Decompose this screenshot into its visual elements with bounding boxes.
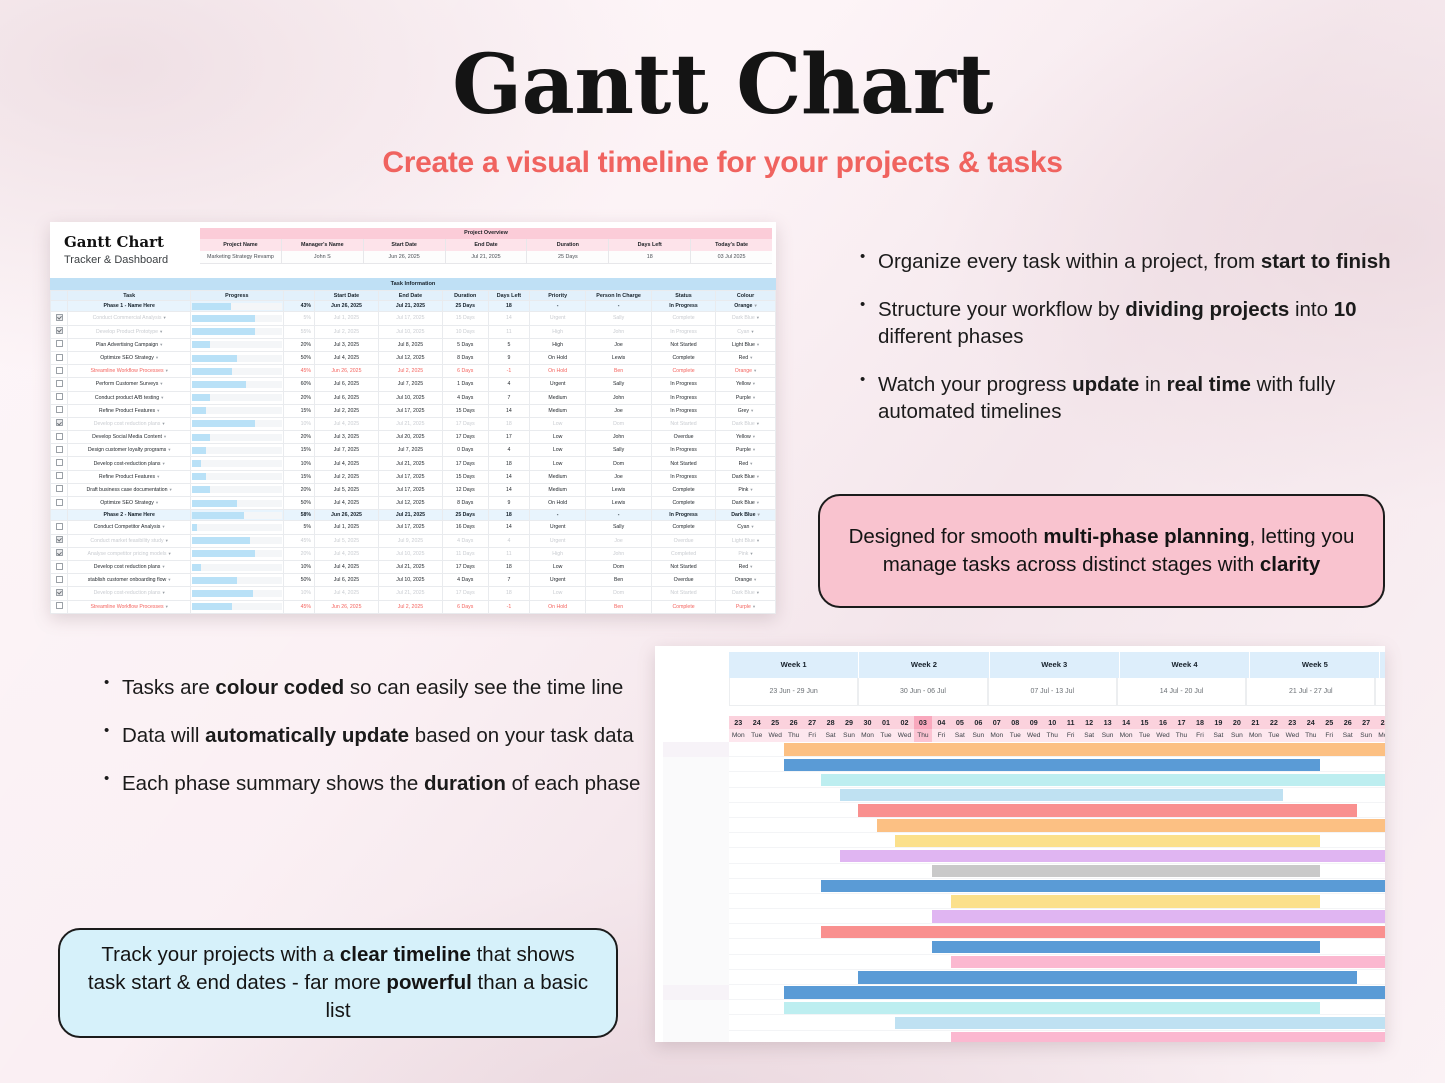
days-left-cell[interactable]: -1: [488, 365, 530, 378]
status-cell[interactable]: Complete: [652, 483, 716, 496]
duration-cell[interactable]: 6 Days: [442, 600, 488, 613]
colour-cell[interactable]: Dark Blue▾: [716, 417, 776, 430]
gantt-bar[interactable]: [840, 789, 1283, 801]
gantt-bar[interactable]: [951, 895, 1320, 907]
gantt-bar[interactable]: [821, 926, 1385, 938]
priority-cell[interactable]: On Hold: [530, 351, 586, 364]
days-left-cell[interactable]: 18: [488, 510, 530, 521]
table-row[interactable]: Phase 2 - Name Here58%Jun 26, 2025Jul 21…: [51, 510, 776, 521]
status-cell[interactable]: In Progress: [652, 301, 716, 312]
start-date-cell[interactable]: Jul 2, 2025: [314, 404, 378, 417]
priority-cell[interactable]: Low: [530, 444, 586, 457]
person-in-charge-cell[interactable]: Joe: [586, 404, 652, 417]
gantt-bar[interactable]: [951, 956, 1385, 968]
days-left-cell[interactable]: 14: [488, 521, 530, 534]
person-in-charge-cell[interactable]: Ben: [586, 600, 652, 613]
colour-cell[interactable]: Pink▾: [716, 483, 776, 496]
table-row[interactable]: Optimize SEO Strategy▾50%Jul 4, 2025Jul …: [51, 351, 776, 364]
days-left-cell[interactable]: -1: [488, 600, 530, 613]
table-row[interactable]: Develop Product Prototype▾55%Jul 2, 2025…: [51, 325, 776, 338]
duration-cell[interactable]: 5 Days: [442, 338, 488, 351]
start-date-cell[interactable]: Jul 6, 2025: [314, 613, 378, 614]
person-in-charge-cell[interactable]: Joe: [586, 338, 652, 351]
end-date-cell[interactable]: Jul 17, 2025: [378, 470, 442, 483]
end-date-cell[interactable]: Jul 20, 2025: [378, 431, 442, 444]
priority-cell[interactable]: Low: [530, 587, 586, 600]
start-date-cell[interactable]: Jul 1, 2025: [314, 521, 378, 534]
table-row[interactable]: stablish customer onboarding flow▾50%Jul…: [51, 574, 776, 587]
days-left-cell[interactable]: 4: [488, 613, 530, 614]
status-cell[interactable]: In Progress: [652, 378, 716, 391]
days-left-cell[interactable]: 18: [488, 301, 530, 312]
task-checkbox[interactable]: [51, 521, 68, 534]
person-in-charge-cell[interactable]: -: [586, 301, 652, 312]
gantt-bar[interactable]: [932, 865, 1320, 877]
colour-cell[interactable]: Orange▾: [716, 574, 776, 587]
task-checkbox[interactable]: [51, 600, 68, 613]
task-name-cell[interactable]: Draft business case documentation▾: [68, 483, 191, 496]
gantt-bar[interactable]: [932, 941, 1320, 953]
progress-percent[interactable]: 50%: [283, 574, 314, 587]
end-date-cell[interactable]: Jul 2, 2025: [378, 365, 442, 378]
task-name-cell[interactable]: Develop Product Prototype▾: [68, 325, 191, 338]
status-cell[interactable]: In Progress: [652, 613, 716, 614]
gantt-bar[interactable]: [840, 850, 1385, 862]
progress-percent[interactable]: 10%: [283, 587, 314, 600]
status-cell[interactable]: In Progress: [652, 470, 716, 483]
task-name-cell[interactable]: Develop cost reduction plans▾: [68, 560, 191, 573]
start-date-cell[interactable]: Jul 4, 2025: [314, 497, 378, 510]
table-row[interactable]: Perform Customer Surveys▾60%Jul 6, 2025J…: [51, 378, 776, 391]
start-date-cell[interactable]: Jun 26, 2025: [314, 510, 378, 521]
status-cell[interactable]: Complete: [652, 351, 716, 364]
task-name-cell[interactable]: Develop cost-reduction plans▾: [68, 457, 191, 470]
task-checkbox[interactable]: [51, 547, 68, 560]
end-date-cell[interactable]: Jul 21, 2025: [378, 457, 442, 470]
duration-cell[interactable]: 0 Days: [442, 444, 488, 457]
gantt-bar[interactable]: [932, 910, 1385, 922]
person-in-charge-cell[interactable]: Dom: [586, 560, 652, 573]
duration-cell[interactable]: 4 Days: [442, 534, 488, 547]
end-date-cell[interactable]: Jul 9, 2025: [378, 534, 442, 547]
person-in-charge-cell[interactable]: John: [586, 325, 652, 338]
start-date-cell[interactable]: Jul 3, 2025: [314, 431, 378, 444]
start-date-cell[interactable]: Jul 2, 2025: [314, 325, 378, 338]
gantt-bar[interactable]: [821, 880, 1385, 892]
duration-cell[interactable]: 11 Days: [442, 547, 488, 560]
duration-cell[interactable]: 17 Days: [442, 417, 488, 430]
table-row[interactable]: Phase 1 - Name Here43%Jun 26, 2025Jul 21…: [51, 301, 776, 312]
days-left-cell[interactable]: 11: [488, 325, 530, 338]
progress-percent[interactable]: 60%: [283, 378, 314, 391]
table-row[interactable]: Perform Customer Surveys▾20%Jul 6, 2025J…: [51, 613, 776, 614]
status-cell[interactable]: Not Started: [652, 338, 716, 351]
priority-cell[interactable]: Urgent: [530, 521, 586, 534]
person-in-charge-cell[interactable]: Sally: [586, 521, 652, 534]
task-checkbox[interactable]: [51, 497, 68, 510]
table-row[interactable]: Optimize SEO Strategy▾50%Jul 4, 2025Jul …: [51, 497, 776, 510]
status-cell[interactable]: In Progress: [652, 510, 716, 521]
status-cell[interactable]: Not Started: [652, 560, 716, 573]
task-name-cell[interactable]: Streamline Workflow Processes▾: [68, 365, 191, 378]
table-row[interactable]: Streamline Workflow Processes▾45%Jun 26,…: [51, 600, 776, 613]
priority-cell[interactable]: Medium: [530, 404, 586, 417]
colour-cell[interactable]: Dark Blue▾: [716, 510, 776, 521]
days-left-cell[interactable]: 18: [488, 417, 530, 430]
start-date-cell[interactable]: Jul 6, 2025: [314, 574, 378, 587]
priority-cell[interactable]: Medium: [530, 470, 586, 483]
table-row[interactable]: Conduct product A/B testing▾20%Jul 6, 20…: [51, 391, 776, 404]
task-name-cell[interactable]: Perform Customer Surveys▾: [68, 378, 191, 391]
gantt-bar[interactable]: [784, 986, 1385, 998]
task-name-cell[interactable]: Optimize SEO Strategy▾: [68, 351, 191, 364]
person-in-charge-cell[interactable]: Ben: [586, 365, 652, 378]
end-date-cell[interactable]: Jul 21, 2025: [378, 587, 442, 600]
task-name-cell[interactable]: stablish customer onboarding flow▾: [68, 574, 191, 587]
colour-cell[interactable]: Dark Blue▾: [716, 312, 776, 325]
start-date-cell[interactable]: Jul 7, 2025: [314, 444, 378, 457]
colour-cell[interactable]: Yellow▾: [716, 378, 776, 391]
progress-percent[interactable]: 15%: [283, 404, 314, 417]
days-left-cell[interactable]: 4: [488, 378, 530, 391]
start-date-cell[interactable]: Jul 4, 2025: [314, 560, 378, 573]
days-left-cell[interactable]: 4: [488, 444, 530, 457]
status-cell[interactable]: Complete: [652, 365, 716, 378]
gantt-bar[interactable]: [784, 759, 1320, 771]
days-left-cell[interactable]: 7: [488, 574, 530, 587]
days-left-cell[interactable]: 14: [488, 470, 530, 483]
priority-cell[interactable]: Low: [530, 457, 586, 470]
person-in-charge-cell[interactable]: -: [586, 510, 652, 521]
progress-percent[interactable]: 43%: [283, 301, 314, 312]
days-left-cell[interactable]: 17: [488, 431, 530, 444]
colour-cell[interactable]: Dark Blue▾: [716, 587, 776, 600]
end-date-cell[interactable]: Jul 7, 2025: [378, 378, 442, 391]
task-checkbox[interactable]: [51, 444, 68, 457]
table-row[interactable]: Develop cost reduction plans▾10%Jul 4, 2…: [51, 417, 776, 430]
person-in-charge-cell[interactable]: Sally: [586, 444, 652, 457]
colour-cell[interactable]: Dark Blue▾: [716, 497, 776, 510]
colour-cell[interactable]: Purple▾: [716, 444, 776, 457]
table-row[interactable]: Develop Social Media Content▾20%Jul 3, 2…: [51, 431, 776, 444]
end-date-cell[interactable]: Jul 10, 2025: [378, 574, 442, 587]
days-left-cell[interactable]: 9: [488, 351, 530, 364]
start-date-cell[interactable]: Jul 2, 2025: [314, 470, 378, 483]
task-checkbox[interactable]: [51, 391, 68, 404]
person-in-charge-cell[interactable]: Dom: [586, 417, 652, 430]
end-date-cell[interactable]: Jul 17, 2025: [378, 521, 442, 534]
task-name-cell[interactable]: Develop cost-reduction plans▾: [68, 587, 191, 600]
task-checkbox[interactable]: [51, 404, 68, 417]
start-date-cell[interactable]: Jul 1, 2025: [314, 312, 378, 325]
duration-cell[interactable]: 17 Days: [442, 560, 488, 573]
task-name-cell[interactable]: Design customer loyalty programs▾: [68, 444, 191, 457]
person-in-charge-cell[interactable]: Joe: [586, 470, 652, 483]
table-row[interactable]: Conduct Competitor Analysis▾5%Jul 1, 202…: [51, 521, 776, 534]
start-date-cell[interactable]: Jul 4, 2025: [314, 587, 378, 600]
task-name-cell[interactable]: Refine Product Features▾: [68, 404, 191, 417]
progress-percent[interactable]: 45%: [283, 534, 314, 547]
colour-cell[interactable]: Light Blue▾: [716, 338, 776, 351]
end-date-cell[interactable]: Jul 2, 2025: [378, 600, 442, 613]
days-left-cell[interactable]: 14: [488, 483, 530, 496]
status-cell[interactable]: Complete: [652, 521, 716, 534]
task-name-cell[interactable]: Conduct product A/B testing▾: [68, 391, 191, 404]
gantt-bar[interactable]: [858, 971, 1357, 983]
task-name-cell[interactable]: Develop Social Media Content▾: [68, 431, 191, 444]
duration-cell[interactable]: 1 Days: [442, 613, 488, 614]
days-left-cell[interactable]: 4: [488, 534, 530, 547]
colour-cell[interactable]: Cyan▾: [716, 613, 776, 614]
colour-cell[interactable]: Yellow▾: [716, 431, 776, 444]
task-checkbox[interactable]: [51, 613, 68, 614]
progress-percent[interactable]: 20%: [283, 483, 314, 496]
progress-percent[interactable]: 5%: [283, 521, 314, 534]
priority-cell[interactable]: Urgent: [530, 613, 586, 614]
task-name-cell[interactable]: Refine Product Features▾: [68, 470, 191, 483]
priority-cell[interactable]: Medium: [530, 391, 586, 404]
colour-cell[interactable]: Light Blue▾: [716, 534, 776, 547]
gantt-bar[interactable]: [784, 743, 1385, 755]
days-left-cell[interactable]: 18: [488, 560, 530, 573]
person-in-charge-cell[interactable]: Lewis: [586, 497, 652, 510]
colour-cell[interactable]: Red▾: [716, 560, 776, 573]
start-date-cell[interactable]: Jul 6, 2025: [314, 378, 378, 391]
table-row[interactable]: Analyse competitor pricing models▾20%Jul…: [51, 547, 776, 560]
end-date-cell[interactable]: Jul 12, 2025: [378, 497, 442, 510]
task-checkbox[interactable]: [51, 457, 68, 470]
start-date-cell[interactable]: Jul 4, 2025: [314, 457, 378, 470]
task-checkbox[interactable]: [51, 351, 68, 364]
task-name-cell[interactable]: Develop cost reduction plans▾: [68, 417, 191, 430]
duration-cell[interactable]: 17 Days: [442, 457, 488, 470]
task-checkbox[interactable]: [51, 534, 68, 547]
end-date-cell[interactable]: Jul 21, 2025: [378, 560, 442, 573]
priority-cell[interactable]: High: [530, 547, 586, 560]
task-name-cell[interactable]: Phase 2 - Name Here: [68, 510, 191, 521]
person-in-charge-cell[interactable]: Sally: [586, 613, 652, 614]
progress-percent[interactable]: 50%: [283, 497, 314, 510]
duration-cell[interactable]: 1 Days: [442, 378, 488, 391]
task-checkbox[interactable]: [51, 312, 68, 325]
days-left-cell[interactable]: 14: [488, 312, 530, 325]
status-cell[interactable]: Overdue: [652, 574, 716, 587]
days-left-cell[interactable]: 18: [488, 457, 530, 470]
duration-cell[interactable]: 6 Days: [442, 365, 488, 378]
task-checkbox[interactable]: [51, 301, 68, 312]
end-date-cell[interactable]: Jul 10, 2025: [378, 391, 442, 404]
colour-cell[interactable]: Orange▾: [716, 301, 776, 312]
status-cell[interactable]: Not Started: [652, 457, 716, 470]
duration-cell[interactable]: 25 Days: [442, 301, 488, 312]
task-name-cell[interactable]: Conduct market feasibility study▾: [68, 534, 191, 547]
priority-cell[interactable]: On Hold: [530, 497, 586, 510]
duration-cell[interactable]: 15 Days: [442, 404, 488, 417]
progress-percent[interactable]: 50%: [283, 351, 314, 364]
end-date-cell[interactable]: Jul 17, 2025: [378, 312, 442, 325]
duration-cell[interactable]: 12 Days: [442, 483, 488, 496]
days-left-cell[interactable]: 9: [488, 497, 530, 510]
progress-percent[interactable]: 10%: [283, 457, 314, 470]
duration-cell[interactable]: 25 Days: [442, 510, 488, 521]
colour-cell[interactable]: Red▾: [716, 351, 776, 364]
start-date-cell[interactable]: Jul 5, 2025: [314, 534, 378, 547]
status-cell[interactable]: Complete: [652, 497, 716, 510]
progress-percent[interactable]: 15%: [283, 470, 314, 483]
priority-cell[interactable]: Urgent: [530, 534, 586, 547]
colour-cell[interactable]: Red▾: [716, 457, 776, 470]
table-row[interactable]: Conduct market feasibility study▾45%Jul …: [51, 534, 776, 547]
person-in-charge-cell[interactable]: John: [586, 391, 652, 404]
colour-cell[interactable]: Pink▾: [716, 547, 776, 560]
start-date-cell[interactable]: Jul 4, 2025: [314, 351, 378, 364]
colour-cell[interactable]: Grey▾: [716, 404, 776, 417]
person-in-charge-cell[interactable]: Ben: [586, 574, 652, 587]
priority-cell[interactable]: High: [530, 325, 586, 338]
end-date-cell[interactable]: Jul 8, 2025: [378, 338, 442, 351]
task-checkbox[interactable]: [51, 560, 68, 573]
colour-cell[interactable]: Purple▾: [716, 600, 776, 613]
person-in-charge-cell[interactable]: Lewis: [586, 351, 652, 364]
progress-percent[interactable]: 20%: [283, 431, 314, 444]
status-cell[interactable]: Overdue: [652, 431, 716, 444]
start-date-cell[interactable]: Jul 6, 2025: [314, 391, 378, 404]
progress-percent[interactable]: 58%: [283, 510, 314, 521]
progress-percent[interactable]: 20%: [283, 338, 314, 351]
start-date-cell[interactable]: Jun 26, 2025: [314, 301, 378, 312]
gantt-bar[interactable]: [895, 835, 1320, 847]
status-cell[interactable]: Complete: [652, 312, 716, 325]
task-name-cell[interactable]: Conduct Commercial Analysis▾: [68, 312, 191, 325]
priority-cell[interactable]: Medium: [530, 483, 586, 496]
task-name-cell[interactable]: Perform Customer Surveys▾: [68, 613, 191, 614]
days-left-cell[interactable]: 18: [488, 587, 530, 600]
progress-percent[interactable]: 45%: [283, 600, 314, 613]
task-name-cell[interactable]: Optimize SEO Strategy▾: [68, 497, 191, 510]
status-cell[interactable]: In Progress: [652, 444, 716, 457]
priority-cell[interactable]: Low: [530, 417, 586, 430]
priority-cell[interactable]: Urgent: [530, 378, 586, 391]
end-date-cell[interactable]: Jul 7, 2025: [378, 444, 442, 457]
colour-cell[interactable]: Cyan▾: [716, 325, 776, 338]
task-checkbox[interactable]: [51, 365, 68, 378]
progress-percent[interactable]: 10%: [283, 560, 314, 573]
task-name-cell[interactable]: Analyse competitor pricing models▾: [68, 547, 191, 560]
start-date-cell[interactable]: Jun 26, 2025: [314, 600, 378, 613]
priority-cell[interactable]: Urgent: [530, 312, 586, 325]
priority-cell[interactable]: Low: [530, 431, 586, 444]
task-name-cell[interactable]: Phase 1 - Name Here: [68, 301, 191, 312]
task-checkbox[interactable]: [51, 417, 68, 430]
gantt-bar[interactable]: [951, 1032, 1385, 1042]
table-row[interactable]: Plan Advertising Campaign▾20%Jul 3, 2025…: [51, 338, 776, 351]
task-name-cell[interactable]: Plan Advertising Campaign▾: [68, 338, 191, 351]
duration-cell[interactable]: 8 Days: [442, 351, 488, 364]
progress-percent[interactable]: 55%: [283, 325, 314, 338]
person-in-charge-cell[interactable]: Dom: [586, 587, 652, 600]
table-row[interactable]: Conduct Commercial Analysis▾5%Jul 1, 202…: [51, 312, 776, 325]
task-name-cell[interactable]: Streamline Workflow Processes▾: [68, 600, 191, 613]
priority-cell[interactable]: High: [530, 338, 586, 351]
duration-cell[interactable]: 4 Days: [442, 574, 488, 587]
start-date-cell[interactable]: Jul 5, 2025: [314, 483, 378, 496]
task-checkbox[interactable]: [51, 338, 68, 351]
colour-cell[interactable]: Orange▾: [716, 365, 776, 378]
status-cell[interactable]: Not Started: [652, 587, 716, 600]
person-in-charge-cell[interactable]: John: [586, 431, 652, 444]
table-row[interactable]: Refine Product Features▾15%Jul 2, 2025Ju…: [51, 404, 776, 417]
days-left-cell[interactable]: 11: [488, 547, 530, 560]
progress-percent[interactable]: 20%: [283, 613, 314, 614]
duration-cell[interactable]: 17 Days: [442, 587, 488, 600]
priority-cell[interactable]: Urgent: [530, 574, 586, 587]
status-cell[interactable]: Complete: [652, 600, 716, 613]
task-checkbox[interactable]: [51, 574, 68, 587]
task-checkbox[interactable]: [51, 510, 68, 521]
end-date-cell[interactable]: Jul 17, 2025: [378, 404, 442, 417]
status-cell[interactable]: Not Started: [652, 417, 716, 430]
gantt-bar[interactable]: [895, 1017, 1385, 1029]
colour-cell[interactable]: Dark Blue▾: [716, 470, 776, 483]
task-checkbox[interactable]: [51, 431, 68, 444]
table-row[interactable]: Draft business case documentation▾20%Jul…: [51, 483, 776, 496]
priority-cell[interactable]: On Hold: [530, 600, 586, 613]
colour-cell[interactable]: Cyan▾: [716, 521, 776, 534]
end-date-cell[interactable]: Jul 21, 2025: [378, 510, 442, 521]
person-in-charge-cell[interactable]: Sally: [586, 378, 652, 391]
end-date-cell[interactable]: Jul 21, 2025: [378, 417, 442, 430]
priority-cell[interactable]: Low: [530, 560, 586, 573]
priority-cell[interactable]: -: [530, 510, 586, 521]
status-cell[interactable]: Overdue: [652, 534, 716, 547]
duration-cell[interactable]: 17 Days: [442, 431, 488, 444]
task-checkbox[interactable]: [51, 378, 68, 391]
priority-cell[interactable]: -: [530, 301, 586, 312]
duration-cell[interactable]: 4 Days: [442, 391, 488, 404]
duration-cell[interactable]: 15 Days: [442, 470, 488, 483]
priority-cell[interactable]: On Hold: [530, 365, 586, 378]
person-in-charge-cell[interactable]: Joe: [586, 534, 652, 547]
person-in-charge-cell[interactable]: Lewis: [586, 483, 652, 496]
end-date-cell[interactable]: Jul 21, 2025: [378, 301, 442, 312]
end-date-cell[interactable]: Jul 12, 2025: [378, 351, 442, 364]
duration-cell[interactable]: 10 Days: [442, 325, 488, 338]
status-cell[interactable]: In Progress: [652, 325, 716, 338]
person-in-charge-cell[interactable]: John: [586, 547, 652, 560]
person-in-charge-cell[interactable]: Dom: [586, 457, 652, 470]
start-date-cell[interactable]: Jul 4, 2025: [314, 417, 378, 430]
task-checkbox[interactable]: [51, 470, 68, 483]
progress-percent[interactable]: 45%: [283, 365, 314, 378]
status-cell[interactable]: In Progress: [652, 404, 716, 417]
task-checkbox[interactable]: [51, 483, 68, 496]
progress-percent[interactable]: 10%: [283, 417, 314, 430]
task-checkbox[interactable]: [51, 587, 68, 600]
end-date-cell[interactable]: Jul 10, 2025: [378, 547, 442, 560]
table-row[interactable]: Design customer loyalty programs▾15%Jul …: [51, 444, 776, 457]
table-row[interactable]: Develop cost reduction plans▾10%Jul 4, 2…: [51, 560, 776, 573]
start-date-cell[interactable]: Jul 3, 2025: [314, 338, 378, 351]
gantt-bar[interactable]: [877, 819, 1385, 831]
progress-percent[interactable]: 20%: [283, 547, 314, 560]
progress-percent[interactable]: 20%: [283, 391, 314, 404]
table-row[interactable]: Develop cost-reduction plans▾10%Jul 4, 2…: [51, 587, 776, 600]
task-name-cell[interactable]: Conduct Competitor Analysis▾: [68, 521, 191, 534]
duration-cell[interactable]: 8 Days: [442, 497, 488, 510]
days-left-cell[interactable]: 7: [488, 391, 530, 404]
progress-percent[interactable]: 15%: [283, 444, 314, 457]
status-cell[interactable]: In Progress: [652, 391, 716, 404]
